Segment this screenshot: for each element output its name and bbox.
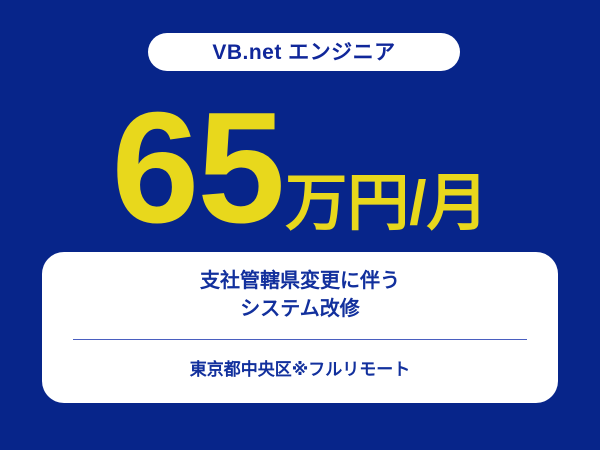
card-divider — [73, 339, 527, 340]
price-block: 65 万円/月 — [0, 100, 600, 230]
job-title-line-1: 支社管轄県変更に伴う — [200, 268, 400, 296]
job-location-note: 東京都中央区※フルリモート — [190, 359, 411, 381]
price-amount: 65 — [112, 107, 284, 230]
job-role-label: VB.net エンジニア — [212, 42, 395, 63]
job-offer-poster: VB.net エンジニア 65 万円/月 支社管轄県変更に伴う システム改修 東… — [0, 0, 600, 450]
job-role-badge: VB.net エンジニア — [148, 33, 460, 71]
job-detail-card: 支社管轄県変更に伴う システム改修 東京都中央区※フルリモート — [42, 252, 558, 403]
price-unit: 万円/月 — [285, 179, 488, 230]
job-title-line-2: システム改修 — [240, 296, 359, 324]
